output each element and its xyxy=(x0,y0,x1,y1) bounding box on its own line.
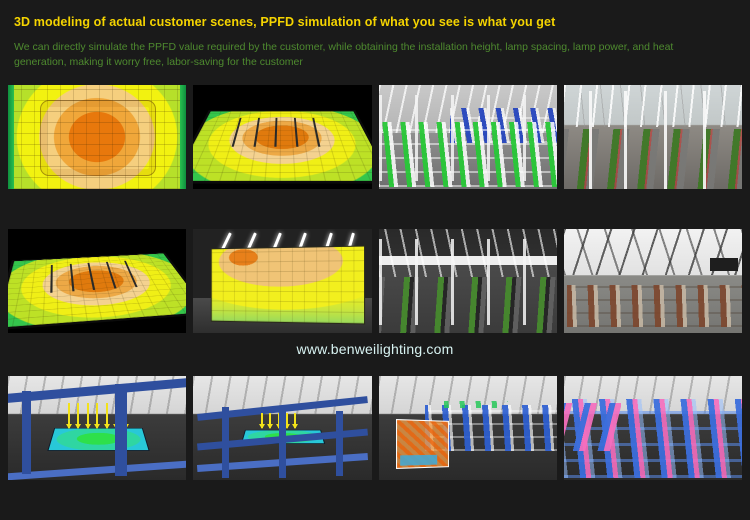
heatmap-scene xyxy=(8,229,186,333)
gallery-row-1 xyxy=(8,85,742,189)
warehouse-interior-tan-benches[interactable] xyxy=(564,229,742,333)
ppfd-3d-heatmap-tilted[interactable] xyxy=(8,229,186,333)
blue-rack-heatmap-rays[interactable] xyxy=(8,376,186,480)
greenhouse-3d-green-benches[interactable] xyxy=(379,85,557,189)
slide-root: 3D modeling of actual customer scenes, P… xyxy=(0,0,750,520)
support-post xyxy=(624,91,627,189)
rack-column xyxy=(115,384,127,476)
ppfd-heat-patch xyxy=(47,428,149,451)
website-watermark: www.benweilighting.com xyxy=(0,341,750,357)
support-post xyxy=(703,91,706,189)
support-post-array xyxy=(379,239,557,324)
greenhouse-interior-plant-rows[interactable] xyxy=(379,229,557,333)
blue-rack-row-perspective[interactable] xyxy=(193,376,371,480)
page-title: 3D modeling of actual customer scenes, P… xyxy=(14,14,736,30)
wall-scene xyxy=(193,229,371,333)
page-subtitle: We can directly simulate the PPFD value … xyxy=(14,40,674,69)
gallery-row-2 xyxy=(8,229,742,333)
pink-led-lit-racks[interactable] xyxy=(564,376,742,480)
heatmap-surface xyxy=(8,85,186,189)
header: 3D modeling of actual customer scenes, P… xyxy=(14,14,736,69)
ppfd-3d-heatmap-with-lamp-bars[interactable] xyxy=(193,85,371,189)
support-post xyxy=(664,91,667,189)
heatmap-wall-plane xyxy=(211,245,365,324)
lamp-bar-array xyxy=(222,118,343,147)
ppfd-flat-heatmap[interactable] xyxy=(8,85,186,189)
ppfd-wall-plane-heatmap[interactable] xyxy=(193,229,371,333)
greenhouse-photo xyxy=(564,85,742,189)
rack-column xyxy=(22,391,31,474)
wall-panel xyxy=(710,258,739,270)
gallery-row-3 xyxy=(8,376,742,480)
support-post-array xyxy=(379,95,557,180)
warehouse-render xyxy=(564,229,742,333)
heatmap-edge-left xyxy=(8,85,14,189)
grow-bench-group xyxy=(567,285,742,327)
rack-scene xyxy=(564,376,742,480)
heatmap-grid xyxy=(212,247,364,324)
selected-object-highlight[interactable] xyxy=(396,419,449,469)
heatmap-edge-right xyxy=(180,85,186,189)
rack-scene xyxy=(8,376,186,480)
greenhouse-render xyxy=(379,85,557,189)
rack-beam-lower xyxy=(8,460,186,480)
rack-scene xyxy=(379,376,557,480)
rack-leg xyxy=(279,409,286,478)
greenhouse-render xyxy=(379,229,557,333)
support-post xyxy=(589,91,592,189)
pink-led-rack-foreground xyxy=(564,403,621,451)
rack-leg xyxy=(336,411,343,475)
rack-scene xyxy=(193,376,371,480)
heatmap-scene xyxy=(193,85,371,189)
rack-leg xyxy=(222,407,229,478)
greenhouse-photo-strawberry-rows[interactable] xyxy=(564,85,742,189)
selected-rack-orange-highlight[interactable] xyxy=(379,376,557,480)
